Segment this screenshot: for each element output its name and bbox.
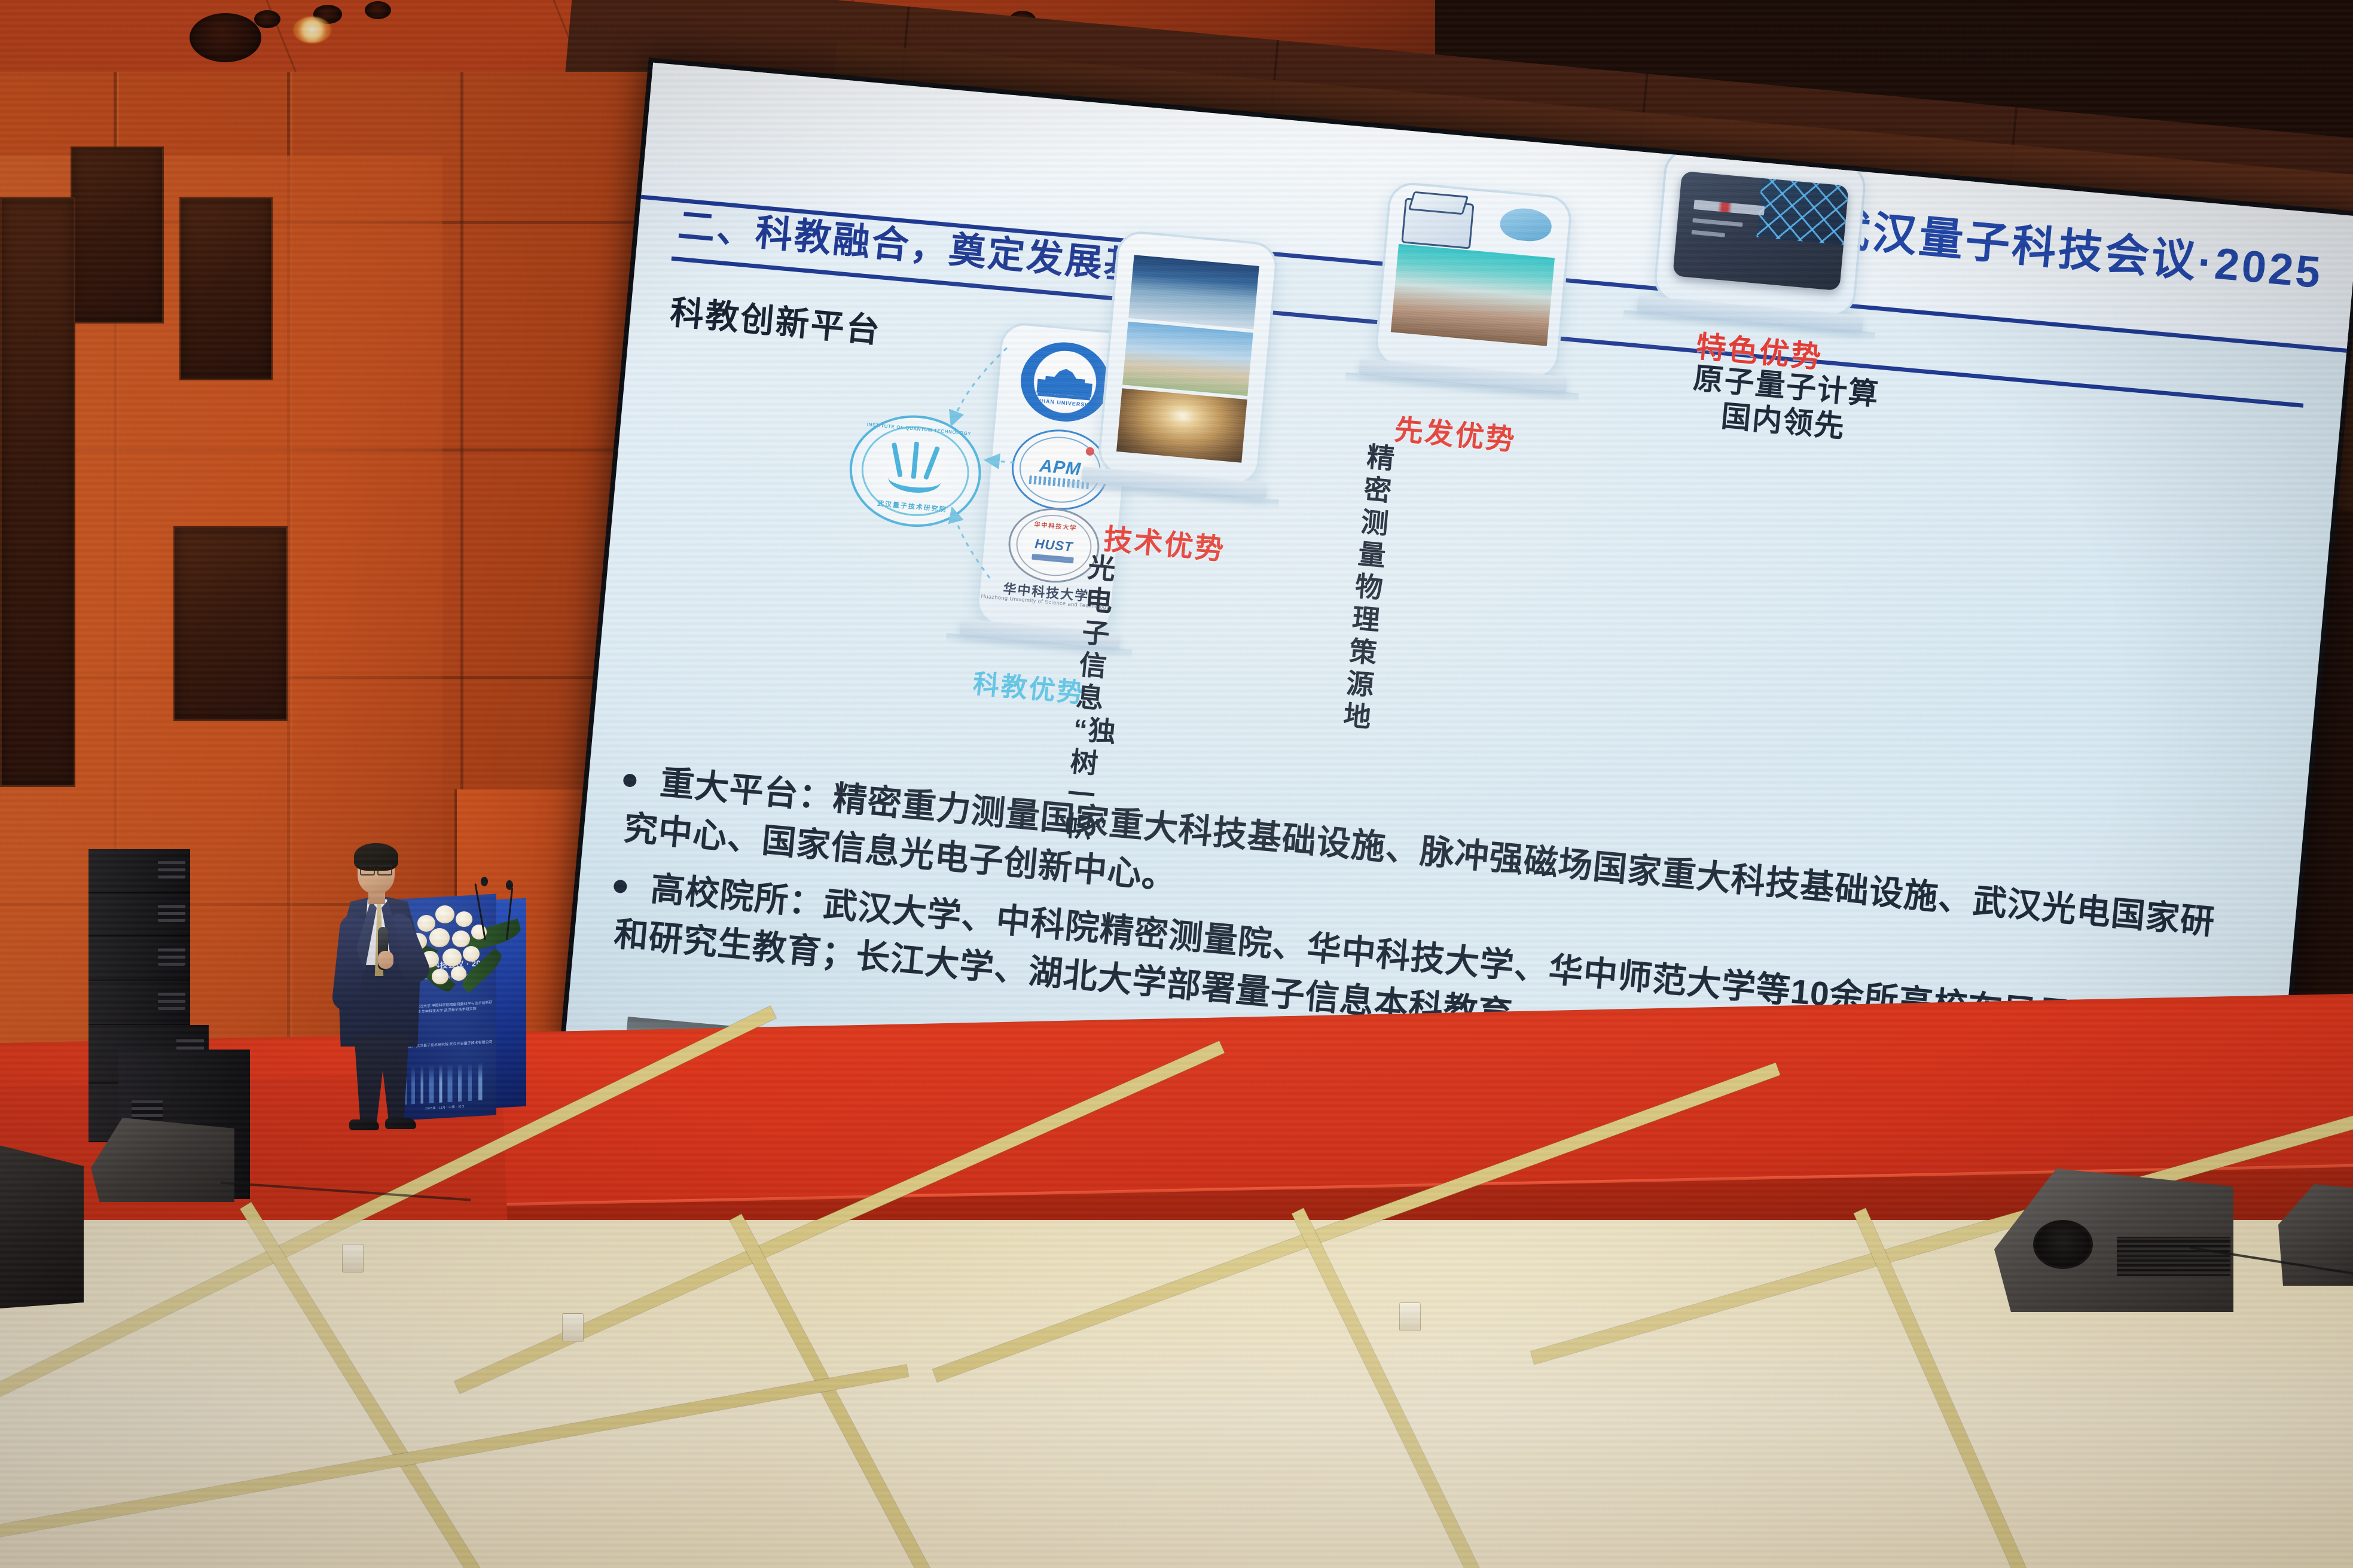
line-array-module — [88, 893, 190, 936]
floor-power-socket[interactable] — [562, 1313, 584, 1342]
flower-bloom — [463, 946, 480, 962]
presenter — [323, 837, 437, 1136]
quantum-label-line1 — [1692, 218, 1742, 227]
pillar-technology-card — [1097, 230, 1280, 487]
floor-power-socket[interactable] — [1399, 1302, 1421, 1331]
eyeglasses — [360, 865, 392, 873]
presenter-shoe-left — [349, 1119, 379, 1130]
microphone-capsule — [481, 877, 488, 886]
vacuum-chamber-graphic — [1499, 206, 1554, 243]
ceiling-vent — [254, 10, 280, 28]
floor-power-socket[interactable] — [342, 1244, 364, 1273]
flower-bloom — [435, 905, 454, 923]
dashed-connector-arrows — [834, 321, 1036, 599]
flower-bloom — [451, 966, 466, 981]
conference-banner-title: 武汉量子科技会议·2025 — [1824, 193, 2326, 301]
presenter-hand — [378, 951, 393, 969]
wall-recess-panel-tall — [0, 197, 75, 787]
presenter-trousers — [350, 1035, 413, 1124]
ceiling-vent — [365, 1, 391, 19]
pillar-first-mover-desc: 精密测量物理 策源地 — [1342, 441, 1397, 734]
line-array-module — [88, 936, 190, 981]
ceiling-downlight — [293, 17, 331, 43]
photo-tile-night-burst — [1116, 388, 1247, 462]
photo-tile-campus — [1391, 244, 1555, 346]
flower-bloom — [456, 911, 472, 927]
photo-tile-skyline — [1122, 322, 1253, 396]
flower-bloom — [452, 931, 470, 947]
photo-tile-city — [1128, 255, 1259, 329]
quantum-brand-logo — [1693, 200, 1765, 215]
presenter-shoe-right — [385, 1118, 416, 1129]
pillar-first-mover-card — [1374, 181, 1573, 380]
line-array-module — [88, 849, 190, 893]
quantum-computer-graphic — [1673, 171, 1849, 291]
ceiling-vent — [190, 13, 261, 62]
pillar-distinctive-card — [1652, 147, 1867, 318]
quantum-label-line2 — [1692, 230, 1725, 237]
speaker-port — [2033, 1220, 2093, 1269]
wall-recess-panel-lower — [173, 526, 288, 721]
conference-stage-photo: 武汉量子科技会议·2025 二、科教融合，奠定发展基础 科教创新平台 WUHAN… — [0, 0, 2353, 1568]
wall-recess-panel-mid — [179, 197, 273, 380]
flower-bloom — [442, 948, 462, 966]
slide-subtitle: 科教创新平台 — [669, 285, 884, 352]
line-array-module — [88, 981, 190, 1025]
microphone-capsule — [506, 880, 513, 890]
pillar-education-label: 科教优势 — [972, 662, 1087, 710]
pillar-distinctive-desc: 原子量子计算 国内领先 — [1662, 358, 1907, 450]
pillar-first-mover-lead: 先发优势 — [1393, 406, 1518, 459]
quantum-lattice-pattern — [1757, 178, 1849, 245]
speaker-grille — [2117, 1237, 2230, 1276]
wall-recess-panel-upper — [71, 147, 164, 324]
